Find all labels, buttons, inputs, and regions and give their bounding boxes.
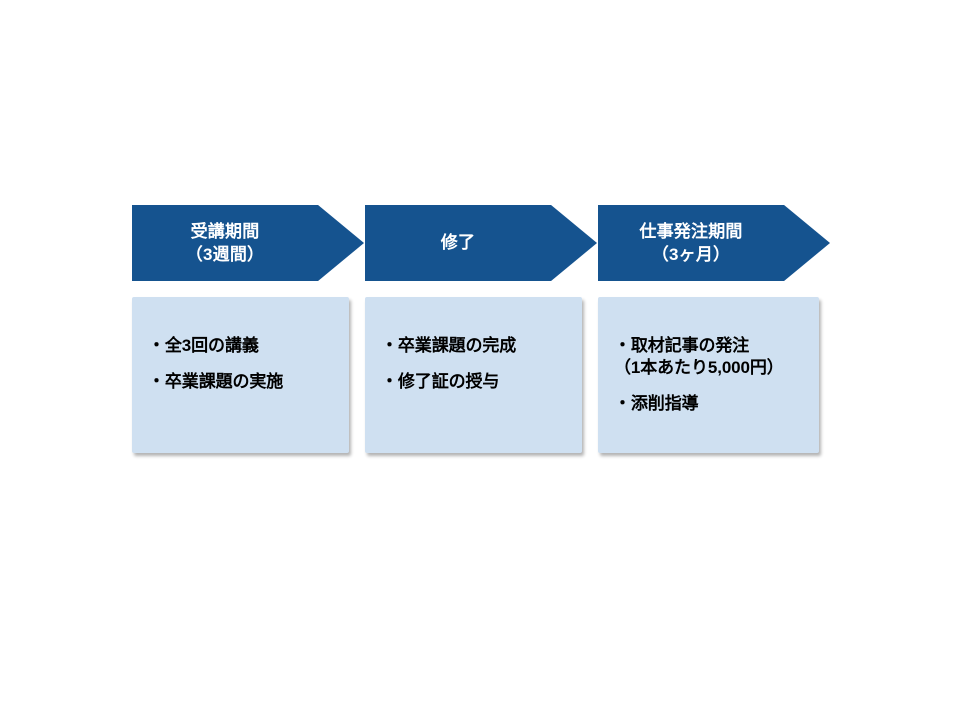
- list-item: ・全3回の講義: [148, 335, 339, 357]
- chevron-arrow-shape: [598, 205, 830, 281]
- stage-1-chevron-header[interactable]: 受講期間 （3週間）: [132, 205, 364, 281]
- process-stage-1: 受講期間 （3週間） ・全3回の講義 ・卒業課題の実施: [132, 205, 364, 455]
- stage-1-detail-card[interactable]: ・全3回の講義 ・卒業課題の実施: [132, 297, 349, 453]
- list-item: ・卒業課題の完成: [381, 335, 572, 357]
- list-item: ・取材記事の発注 （1本あたり5,000円）: [614, 335, 809, 379]
- stage-2-bullet-list: ・卒業課題の完成 ・修了証の授与: [381, 335, 572, 393]
- process-stage-2: 修了 ・卒業課題の完成 ・修了証の授与: [365, 205, 597, 455]
- stage-2-chevron-header[interactable]: 修了: [365, 205, 597, 281]
- stage-3-chevron-header[interactable]: 仕事発注期間 （3ヶ月）: [598, 205, 830, 281]
- chevron-arrow-shape: [365, 205, 597, 281]
- stage-3-detail-card[interactable]: ・取材記事の発注 （1本あたり5,000円） ・添削指導: [598, 297, 819, 453]
- list-item: ・卒業課題の実施: [148, 371, 339, 393]
- stage-2-detail-card[interactable]: ・卒業課題の完成 ・修了証の授与: [365, 297, 582, 453]
- slide-canvas: 受講期間 （3週間） ・全3回の講義 ・卒業課題の実施 修了: [0, 0, 960, 720]
- stage-1-bullet-list: ・全3回の講義 ・卒業課題の実施: [148, 335, 339, 393]
- stage-3-bullet-list: ・取材記事の発注 （1本あたり5,000円） ・添削指導: [614, 335, 809, 415]
- list-item: ・修了証の授与: [381, 371, 572, 393]
- process-stage-3: 仕事発注期間 （3ヶ月） ・取材記事の発注 （1本あたり5,000円） ・添削指…: [598, 205, 830, 455]
- list-item: ・添削指導: [614, 393, 809, 415]
- process-flow-diagram: 受講期間 （3週間） ・全3回の講義 ・卒業課題の実施 修了: [132, 205, 828, 455]
- chevron-arrow-shape: [132, 205, 364, 281]
